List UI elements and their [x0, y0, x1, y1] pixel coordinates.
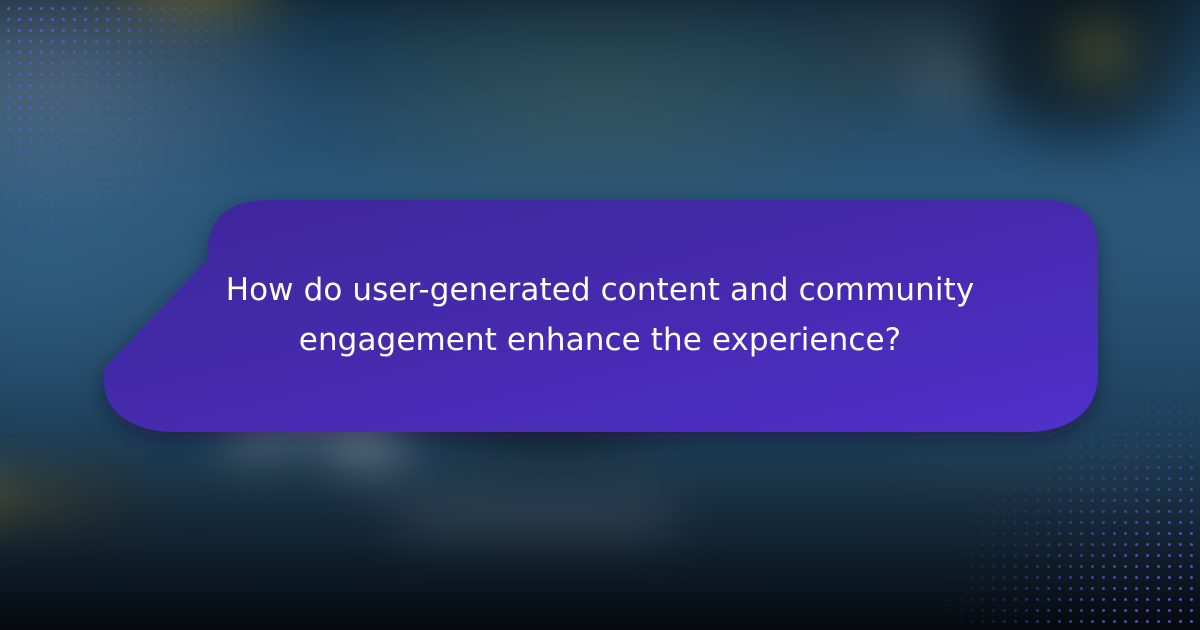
hud-strip-right [912, 466, 1151, 478]
hud-panel [398, 507, 670, 526]
screenshot-canvas: How do user-generated content and commun… [0, 0, 1200, 630]
hud-status-bar [0, 482, 136, 513]
question-line-1: How do user-generated content and commun… [226, 271, 975, 311]
question-text-block: How do user-generated content and commun… [95, 196, 1105, 436]
question-line-2: engagement enhance the experience? [299, 321, 901, 361]
question-card: How do user-generated content and commun… [95, 196, 1105, 436]
cockpit-glow-icon [1052, 8, 1146, 91]
